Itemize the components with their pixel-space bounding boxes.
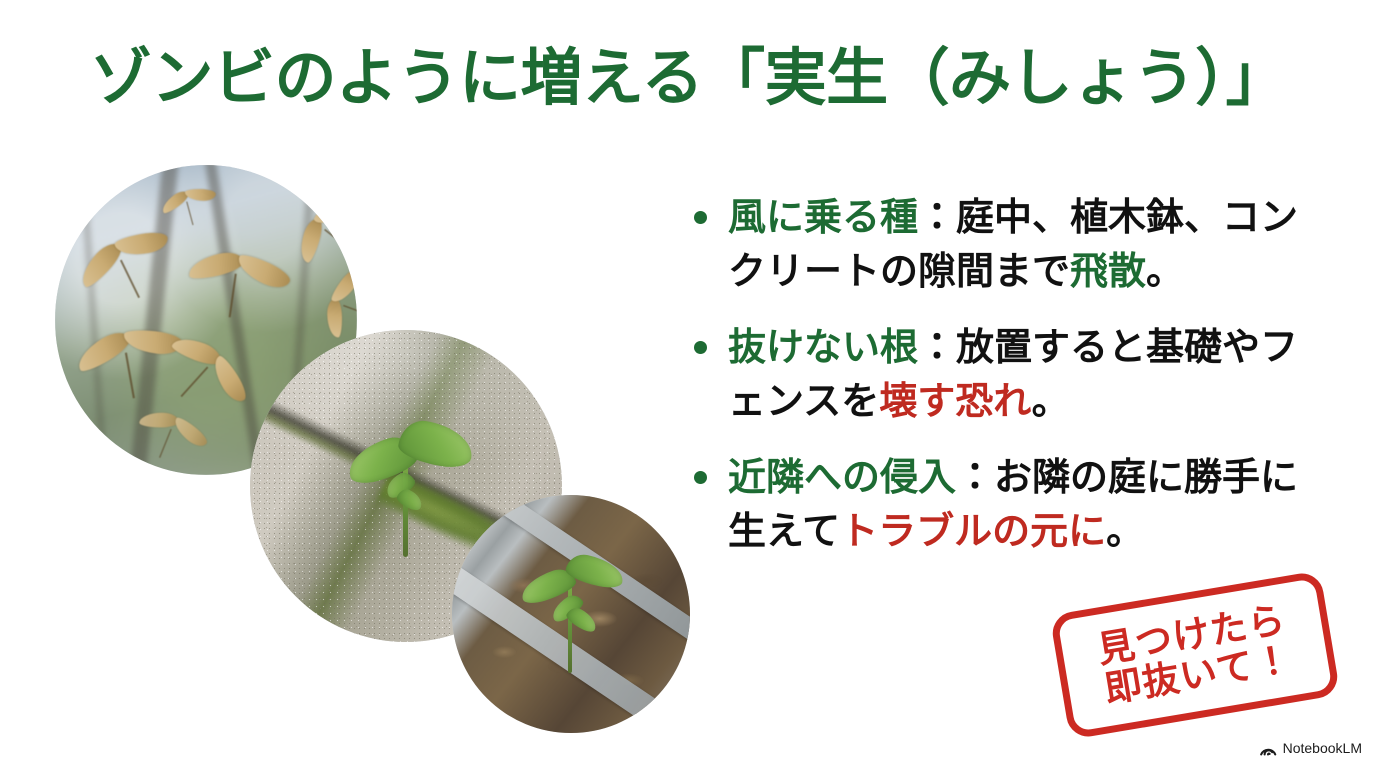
list-item: 抜けない根：放置すると基礎やフェンスを壊す恐れ。 bbox=[688, 322, 1336, 430]
bullet-lead: 近隣への侵入 bbox=[728, 457, 956, 499]
bullet-highlight: 壊す恐れ bbox=[879, 381, 1031, 423]
bullet-dot-icon bbox=[694, 211, 707, 224]
slide-canvas: ゾンビのように増える「実生（みしょう）」 bbox=[0, 0, 1376, 768]
seedling bbox=[542, 547, 652, 677]
bullet-lead: 抜けない根 bbox=[728, 327, 918, 369]
stamp-text: 見つけたら 即抜いて！ bbox=[1049, 570, 1340, 739]
bullet-dot-icon bbox=[694, 471, 707, 484]
photo-seedling-in-rain-gutter bbox=[452, 495, 690, 733]
list-item: 風に乗る種：庭中、植木鉢、コンクリートの隙間まで飛散。 bbox=[688, 192, 1336, 300]
bullet-separator: ： bbox=[956, 457, 994, 499]
tree-trunk bbox=[82, 196, 108, 475]
brand-label: NotebookLM bbox=[1283, 740, 1362, 756]
bullet-lead: 風に乗る種 bbox=[728, 197, 918, 239]
tree-trunk bbox=[127, 165, 179, 475]
list-item: 近隣への侵入：お隣の庭に勝手に生えてトラブルの元に。 bbox=[688, 452, 1336, 560]
bullet-body-after: 。 bbox=[1146, 251, 1184, 293]
bullet-separator: ： bbox=[918, 327, 956, 369]
call-to-action-stamp: 見つけたら 即抜いて！ bbox=[1049, 570, 1340, 739]
brand-footer: NotebookLM bbox=[1260, 740, 1362, 756]
bullet-dot-icon bbox=[694, 341, 707, 354]
bullet-highlight: トラブルの元に bbox=[840, 511, 1106, 553]
bullet-body-after: 。 bbox=[1032, 381, 1070, 423]
photo-gutter-background bbox=[452, 495, 690, 733]
bullet-highlight: 飛散 bbox=[1070, 251, 1146, 293]
page-title: ゾンビのように増える「実生（みしょう）」 bbox=[90, 48, 1310, 110]
bullet-list: 風に乗る種：庭中、植木鉢、コンクリートの隙間まで飛散。 抜けない根：放置すると基… bbox=[688, 192, 1336, 582]
notebooklm-arc-icon bbox=[1260, 741, 1277, 756]
bullet-separator: ： bbox=[918, 197, 956, 239]
bullet-body-after: 。 bbox=[1106, 511, 1144, 553]
